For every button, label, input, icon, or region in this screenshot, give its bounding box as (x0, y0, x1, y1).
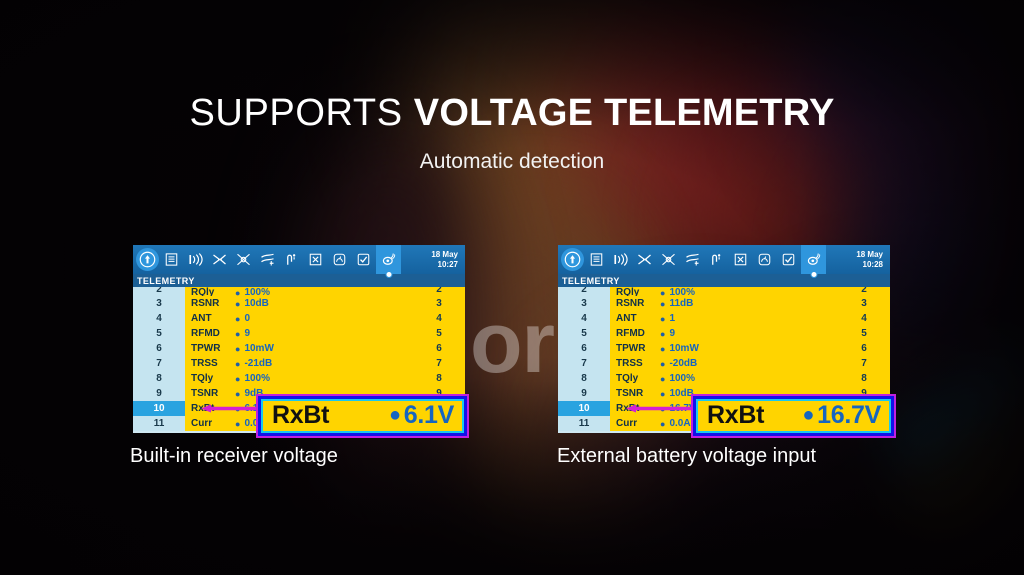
sensor-bullet-icon: ● (235, 419, 240, 429)
table-row[interactable]: 3 RSNR ● 11dB 3 (558, 296, 890, 311)
callout-sensor-value: 16.7V (817, 401, 881, 430)
table-row[interactable]: 4 ANT ● 0 4 (133, 311, 465, 326)
callout-inner-border: RxBt ● 6.1V (258, 396, 467, 436)
active-page-dot (810, 271, 817, 278)
row-index: 7 (133, 356, 185, 371)
row-label: TSNR (616, 388, 656, 399)
row-number: 2 (838, 287, 890, 296)
curves-icon[interactable] (681, 248, 704, 271)
callout-sensor-label: RxBt (707, 401, 764, 430)
row-index: 8 (558, 371, 610, 386)
row-label: RSNR (616, 298, 656, 309)
row-label: TRSS (616, 358, 656, 369)
row-index: 6 (558, 341, 610, 356)
row-label: TSNR (191, 388, 231, 399)
row-index: 11 (558, 416, 610, 431)
sensor-bullet-icon: ● (660, 389, 665, 399)
table-row[interactable]: 7 TRSS ● -21dB 7 (133, 356, 465, 371)
row-label: RFMD (616, 328, 656, 339)
page-subtitle: Automatic detection (0, 150, 1024, 174)
row-body: ANT ● 0 (185, 311, 413, 326)
row-body: RSNR ● 10dB (185, 296, 413, 311)
headings-block: SUPPORTS VOLTAGE TELEMETRY Automatic det… (0, 0, 1024, 174)
clock-time: 10:28 (856, 260, 883, 270)
table-row[interactable]: 8 TQly ● 100% 8 (133, 371, 465, 386)
row-number: 7 (838, 356, 890, 371)
screen-topbar: 18 May 10:28 (558, 245, 890, 274)
table-row[interactable]: 3 RSNR ● 10dB 3 (133, 296, 465, 311)
row-number: 4 (413, 311, 465, 326)
row-body: TQly ● 100% (185, 371, 413, 386)
row-value: -20dB (669, 358, 697, 369)
row-index: 4 (558, 311, 610, 326)
clock-display: 18 May 10:27 (431, 250, 465, 270)
row-value: 1 (669, 313, 675, 324)
table-row[interactable]: 6 TPWR ● 10mW 6 (133, 341, 465, 356)
row-number: 8 (413, 371, 465, 386)
rf-signal-icon[interactable] (609, 248, 632, 271)
screen-topbar: 18 May 10:27 (133, 245, 465, 274)
sensor-bullet-icon: ● (235, 389, 240, 399)
mixer-icon[interactable] (633, 248, 656, 271)
row-body: TPWR ● 10mW (185, 341, 413, 356)
row-value: 10mW (244, 343, 273, 354)
row-body: RFMD ● 9 (610, 326, 838, 341)
row-label: TQly (616, 373, 656, 384)
row-index: 9 (558, 386, 610, 401)
row-index: 4 (133, 311, 185, 326)
row-body: TQly ● 100% (610, 371, 838, 386)
row-number: 2 (413, 287, 465, 296)
table-row[interactable]: 5 RFMD ● 9 5 (133, 326, 465, 341)
checklist-icon[interactable] (352, 248, 375, 271)
clock-date: 18 May (856, 250, 883, 260)
row-body: RQly ● 100% (185, 287, 413, 296)
row-value: 100% (669, 373, 695, 384)
row-body: TPWR ● 10mW (610, 341, 838, 356)
callout-content: RxBt ● 6.1V (261, 399, 464, 433)
row-label: ANT (191, 313, 231, 324)
row-value: 100% (244, 373, 270, 384)
row-value: 0 (244, 313, 250, 324)
zoom-callout-built-in-receiver: RxBt ● 6.1V (256, 394, 469, 438)
clock-date: 18 May (431, 250, 458, 260)
callout-sensor-value-group: ● 6.1V (389, 401, 454, 430)
telemetry-page-title: TELEMETRY (558, 274, 890, 287)
table-row[interactable]: 7 TRSS ● -20dB 7 (558, 356, 890, 371)
row-number: 5 (413, 326, 465, 341)
page-title-strong: VOLTAGE TELEMETRY (414, 92, 835, 134)
curves-icon[interactable] (256, 248, 279, 271)
row-number: 8 (838, 371, 890, 386)
sensor-bullet-icon: ● (660, 299, 665, 309)
model-list-icon[interactable] (160, 248, 183, 271)
row-number: 5 (838, 326, 890, 341)
servo-cross-icon[interactable] (657, 248, 680, 271)
sensor-bullet-icon: ● (235, 329, 240, 339)
callout-content: RxBt ● 16.7V (696, 399, 891, 433)
row-number: 6 (838, 341, 890, 356)
row-index: 10 (133, 401, 185, 416)
row-body: RQly ● 100% (610, 287, 838, 296)
row-label: RSNR (191, 298, 231, 309)
rf-signal-icon[interactable] (184, 248, 207, 271)
row-value: 10dB (244, 298, 268, 309)
row-number: 3 (413, 296, 465, 311)
active-page-dot (385, 271, 392, 278)
sensor-bullet-icon: ● (660, 359, 665, 369)
row-index: 9 (133, 386, 185, 401)
transmitter-icon[interactable] (561, 248, 584, 271)
row-label: TPWR (616, 343, 656, 354)
sensor-bullet-icon: ● (660, 314, 665, 324)
topbar-icon-group (133, 245, 401, 274)
row-label: Curr (191, 418, 231, 429)
display-eye-icon[interactable] (801, 245, 826, 274)
row-index: 3 (133, 296, 185, 311)
transmitter-icon[interactable] (136, 248, 159, 271)
row-index: 10 (558, 401, 610, 416)
callout-sensor-value: 6.1V (404, 401, 454, 430)
row-value: 11dB (669, 298, 693, 309)
telemetry-page-title: TELEMETRY (133, 274, 465, 287)
callout-inner-border: RxBt ● 16.7V (693, 396, 894, 436)
row-index: 6 (133, 341, 185, 356)
zoom-callout-external-battery: RxBt ● 16.7V (691, 394, 896, 438)
logical-switch-icon[interactable] (280, 248, 303, 271)
row-value: 10mW (669, 343, 698, 354)
telemetry-sensors-icon[interactable] (328, 248, 351, 271)
table-row[interactable]: 6 TPWR ● 10mW 6 (558, 341, 890, 356)
telemetry-sensors-icon[interactable] (753, 248, 776, 271)
row-body: TRSS ● -21dB (185, 356, 413, 371)
row-index: 8 (133, 371, 185, 386)
sensor-bullet-icon: ● (235, 374, 240, 384)
special-functions-icon[interactable] (304, 248, 327, 271)
sensor-bullet-icon: ● (660, 419, 665, 429)
display-eye-icon[interactable] (376, 245, 401, 274)
clock-display: 18 May 10:28 (856, 250, 890, 270)
sensor-bullet-icon: ● (660, 344, 665, 354)
sensor-bullet-icon: ● (235, 359, 240, 369)
sensor-bullet-icon: ● (235, 344, 240, 354)
table-row[interactable]: 2 RQly ● 100% 2 (558, 287, 890, 296)
row-number: 7 (413, 356, 465, 371)
page-title-light: SUPPORTS (189, 92, 413, 134)
sensor-bullet-icon: ● (235, 299, 240, 309)
row-index: 2 (133, 287, 185, 296)
model-list-icon[interactable] (585, 248, 608, 271)
topbar-icon-group (558, 245, 826, 274)
checklist-icon[interactable] (777, 248, 800, 271)
row-value: 9 (669, 328, 675, 339)
row-index: 5 (133, 326, 185, 341)
table-row[interactable]: 4 ANT ● 1 4 (558, 311, 890, 326)
row-value: -21dB (244, 358, 272, 369)
table-row[interactable]: 2 RQly ● 100% 2 (133, 287, 465, 296)
logical-switch-icon[interactable] (705, 248, 728, 271)
row-value: 0.0A (669, 418, 690, 429)
sensor-bullet-icon: ● (660, 329, 665, 339)
row-number: 4 (838, 311, 890, 326)
row-label: Curr (616, 418, 656, 429)
row-body: ANT ● 1 (610, 311, 838, 326)
row-label: TPWR (191, 343, 231, 354)
callout-sensor-value-group: ● 16.7V (802, 401, 881, 430)
row-label: TRSS (191, 358, 231, 369)
row-index: 7 (558, 356, 610, 371)
sensor-bullet-icon: ● (235, 314, 240, 324)
row-body: TRSS ● -20dB (610, 356, 838, 371)
row-index: 3 (558, 296, 610, 311)
mixer-icon[interactable] (208, 248, 231, 271)
callout-sensor-label: RxBt (272, 401, 329, 430)
table-row[interactable]: 5 RFMD ● 9 5 (558, 326, 890, 341)
special-functions-icon[interactable] (729, 248, 752, 271)
row-index: 2 (558, 287, 610, 296)
row-index: 5 (558, 326, 610, 341)
row-body: RSNR ● 11dB (610, 296, 838, 311)
row-label: RFMD (191, 328, 231, 339)
row-index: 11 (133, 416, 185, 431)
caption-external-battery: External battery voltage input (557, 445, 816, 468)
row-body: RFMD ● 9 (185, 326, 413, 341)
clock-time: 10:27 (431, 260, 458, 270)
row-number: 6 (413, 341, 465, 356)
row-value: 9 (244, 328, 250, 339)
table-row[interactable]: 8 TQly ● 100% 8 (558, 371, 890, 386)
caption-built-in-receiver: Built-in receiver voltage (130, 445, 338, 468)
row-number: 3 (838, 296, 890, 311)
sensor-bullet-icon: ● (660, 374, 665, 384)
servo-cross-icon[interactable] (232, 248, 255, 271)
page-title: SUPPORTS VOLTAGE TELEMETRY (0, 92, 1024, 135)
row-label: ANT (616, 313, 656, 324)
row-label: TQly (191, 373, 231, 384)
